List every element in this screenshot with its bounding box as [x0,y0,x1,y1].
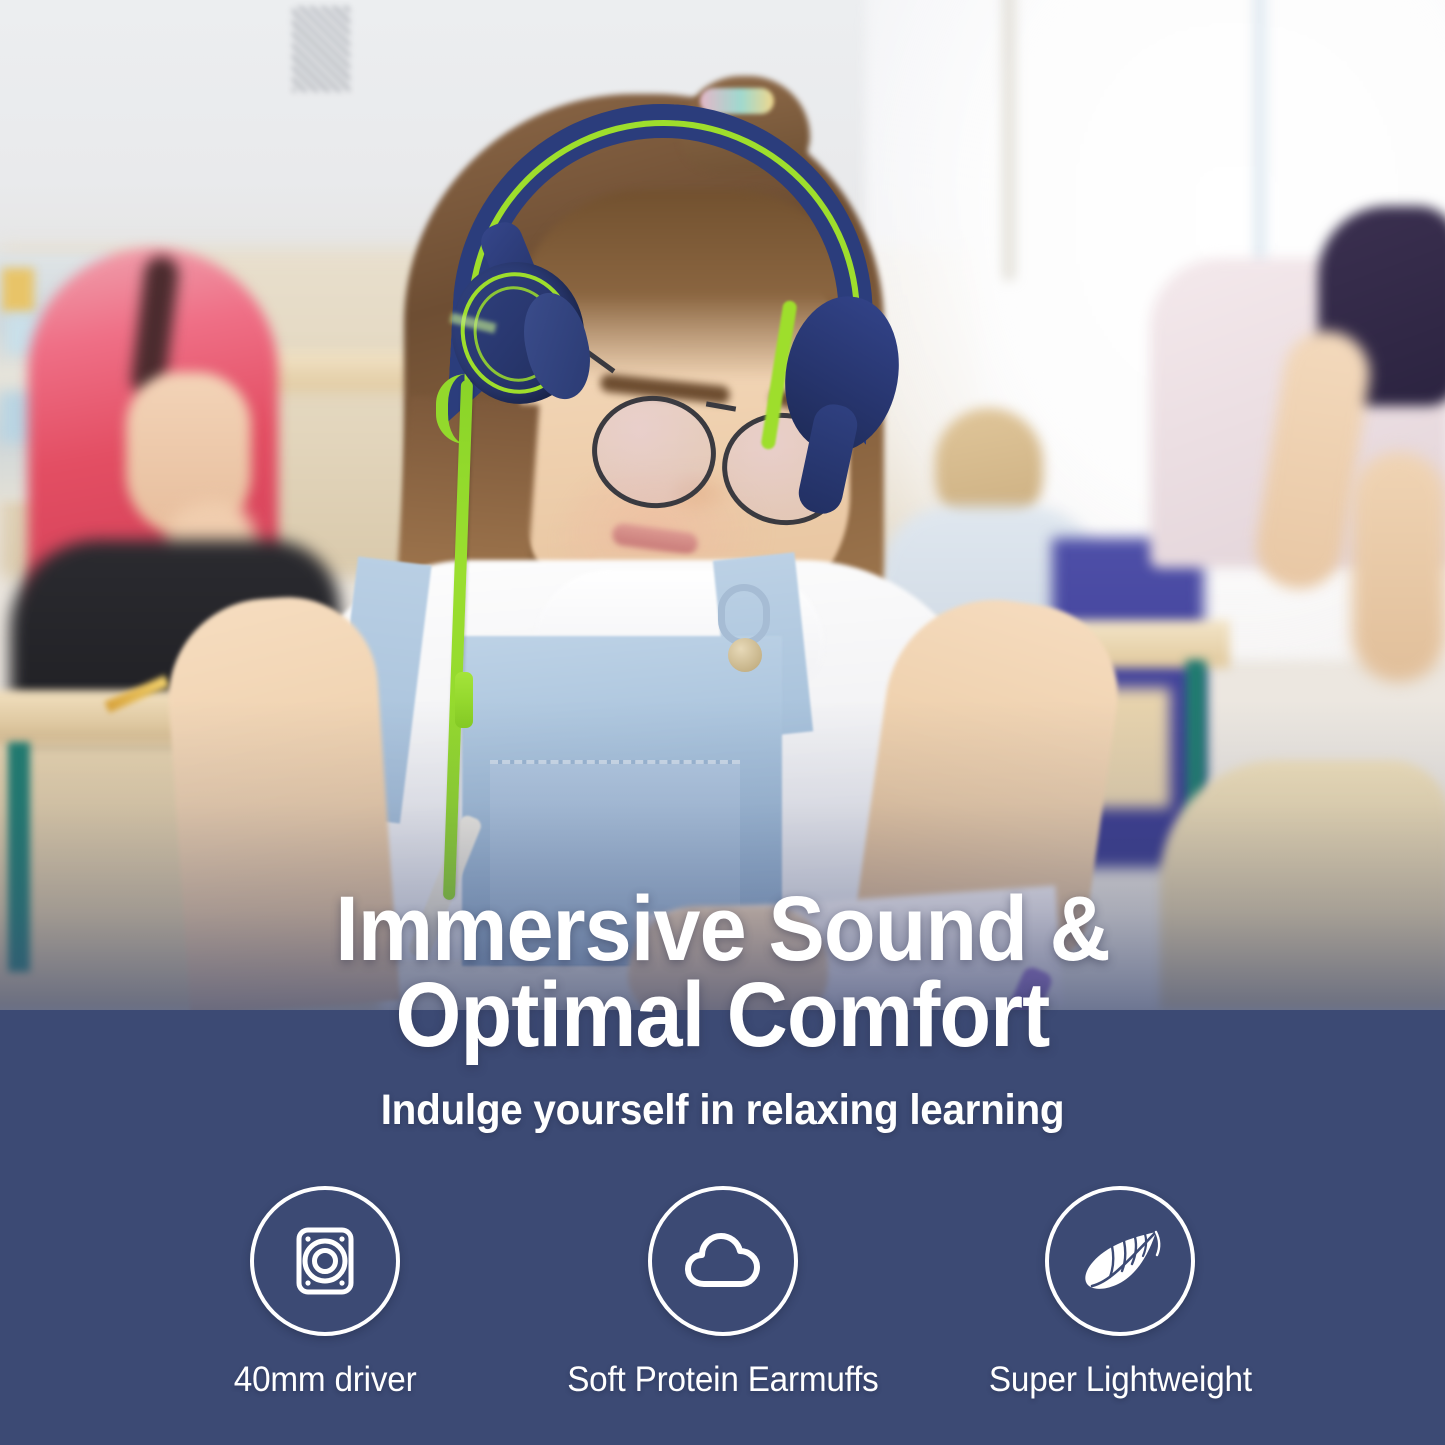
cloud-icon [680,1222,766,1300]
feature-label: Soft Protein Earmuffs [567,1360,878,1400]
headphone-inline-control [455,672,473,728]
subtitle: Indulge yourself in relaxing learning [43,1086,1401,1135]
feature-label: 40mm driver [234,1360,417,1400]
feature-item-earmuffs: Soft Protein Earmuffs [558,1186,888,1400]
shelf-book [2,268,34,312]
feature-item-driver: 40mm driver [160,1186,490,1400]
product-lifestyle-poster: Immersive Sound & Optimal Comfort Indulg… [0,0,1445,1445]
feature-item-lightweight: Super Lightweight [955,1186,1285,1400]
denim-overall-button [728,638,762,672]
speaker-driver-icon [286,1222,364,1300]
headline: Immersive Sound & Optimal Comfort [58,886,1387,1058]
headline-line-2: Optimal Comfort [58,972,1387,1058]
headline-line-1: Immersive Sound & [58,886,1387,972]
wall-poster [292,6,350,92]
feather-icon [1074,1222,1166,1300]
denim-overall-buckle [718,584,770,646]
window-frame [1003,0,1015,280]
feature-icon-circle [1045,1186,1195,1336]
feature-list: 40mm driver Soft Protein Earmuffs [160,1186,1285,1400]
classroom-photo [0,0,1445,1010]
feature-icon-circle [648,1186,798,1336]
desk-leg [8,742,30,972]
feature-icon-circle [250,1186,400,1336]
background-student-arm [1352,452,1445,682]
feature-label: Super Lightweight [989,1360,1252,1400]
